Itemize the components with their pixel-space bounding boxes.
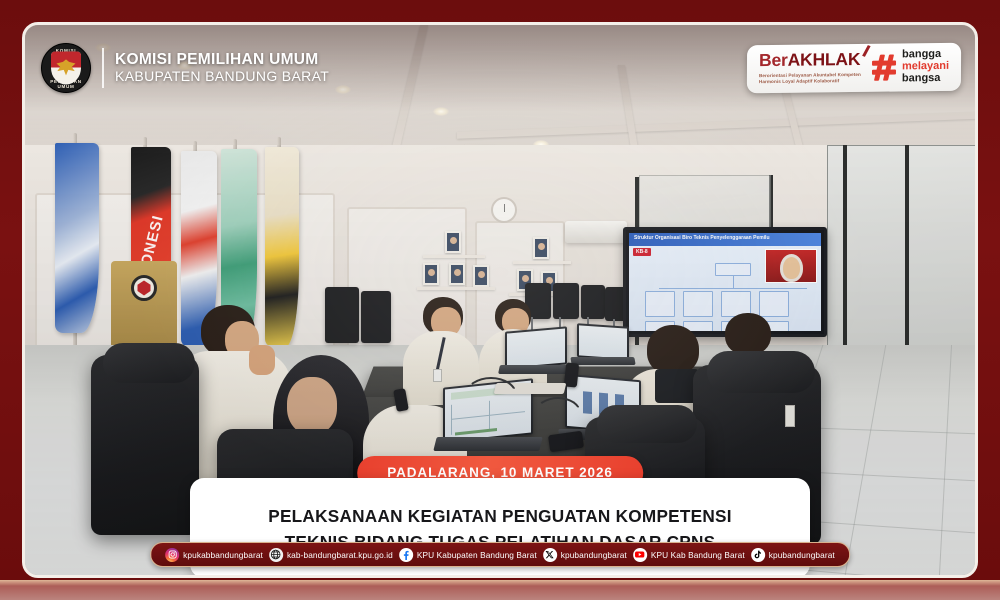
- facebook-icon: [399, 548, 413, 562]
- x-handle: kpubandungbarat: [561, 550, 627, 560]
- tiktok-handle: kpubandungbarat: [769, 550, 835, 560]
- head: [725, 313, 771, 355]
- berakhlak-word-main: AKHLAK: [788, 49, 861, 70]
- website-icon: [269, 548, 283, 562]
- tagline-line-2: Harmonis Loyal Adaptif Kolaboratif: [759, 78, 861, 86]
- hands: [249, 345, 275, 375]
- screen-title-bar: Struktur Organisasi Biro Teknis Penyelen…: [629, 233, 821, 246]
- id-card: [433, 369, 442, 382]
- social-item-website[interactable]: kab-bandungbarat.kpu.go.id: [269, 548, 393, 562]
- x-twitter-icon: [543, 548, 557, 562]
- window-mullion: [905, 145, 909, 377]
- social-item-instagram[interactable]: kpukabbandungbarat: [165, 548, 263, 562]
- berakhlak-word-prefix: Ber: [759, 50, 788, 70]
- website-url: kab-bandungbarat.kpu.go.id: [287, 550, 393, 560]
- laptop-screen-display: [579, 325, 627, 358]
- youtube-icon: [633, 548, 647, 562]
- official-portrait: [445, 231, 461, 253]
- org-node: [645, 291, 675, 317]
- chair-tag: [785, 405, 795, 427]
- brand-block: KOMISI PEMILIHAN UMUM KOMISI PEMILIHAN U…: [41, 43, 329, 93]
- portrait-shelf: [423, 255, 485, 258]
- social-item-youtube[interactable]: KPU Kab Bandung Barat: [633, 548, 745, 562]
- bangga-melayani-block: bangga melayani bangsa: [872, 49, 949, 85]
- kpu-logo-icon: KOMISI PEMILIHAN UMUM: [41, 43, 91, 93]
- social-item-facebook[interactable]: KPU Kabupaten Bandung Barat: [399, 548, 537, 562]
- party-flag: [265, 147, 299, 347]
- screen-badge: KB-8: [633, 248, 651, 256]
- garuda-icon: [57, 59, 76, 75]
- stacked-chair: [325, 287, 359, 343]
- header-overlay: KOMISI PEMILIHAN UMUM KOMISI PEMILIHAN U…: [25, 25, 975, 111]
- tiktok-icon: [751, 548, 765, 562]
- social-item-tiktok[interactable]: kpubandungbarat: [751, 548, 835, 562]
- instagram-handle: kpukabbandungbarat: [183, 550, 263, 560]
- screen-title-text: Struktur Organisasi Biro Teknis Penyelen…: [634, 235, 770, 241]
- brand-text: KOMISI PEMILIHAN UMUM KABUPATEN BANDUNG …: [115, 51, 329, 84]
- org-node: [683, 291, 713, 317]
- wall-clock: [491, 197, 517, 223]
- face: [287, 377, 337, 435]
- laptop-base: [570, 357, 635, 365]
- slogan-text: bangga melayani bangsa: [902, 49, 949, 85]
- party-flag: [55, 143, 99, 333]
- chair-headrest: [707, 351, 815, 393]
- laptop: [577, 323, 629, 361]
- outer-frame: DONESI: [0, 0, 1000, 600]
- hashtag-icon: [872, 54, 896, 80]
- official-portrait: [473, 265, 489, 287]
- stacked-chair: [581, 285, 605, 319]
- head: [647, 325, 699, 375]
- brand-divider: [102, 48, 104, 88]
- social-item-x[interactable]: kpubandungbarat: [543, 548, 627, 562]
- instagram-icon: [165, 548, 179, 562]
- berakhlak-badge: BerAKHLAK Berorientasi Pelayanan Akuntab…: [747, 43, 961, 94]
- portrait-shelf: [513, 261, 571, 264]
- youtube-handle: KPU Kab Bandung Barat: [651, 550, 745, 560]
- berakhlak-wordmark: BerAKHLAK Berorientasi Pelayanan Akuntab…: [759, 51, 861, 85]
- official-portrait: [533, 237, 549, 259]
- facebook-handle: KPU Kabupaten Bandung Barat: [417, 550, 537, 560]
- slogan-line-3: bangsa: [902, 72, 949, 84]
- laptop-base: [498, 365, 574, 374]
- presentation-screen: Struktur Organisasi Biro Teknis Penyelen…: [623, 227, 827, 337]
- garuda-shield: [51, 52, 81, 85]
- chair-headrest: [597, 405, 697, 443]
- org-connector: [733, 276, 734, 288]
- stacked-chair: [361, 291, 391, 343]
- glass-partition: [827, 145, 975, 377]
- air-conditioner: [565, 221, 627, 243]
- slogan-line-2: melayani: [902, 60, 949, 72]
- caption-line-1: PELAKSANAAN KEGIATAN PENGUATAN KOMPETENS…: [210, 504, 790, 530]
- org-node: [715, 263, 751, 276]
- check-tick-icon: [856, 43, 870, 57]
- stacked-chair: [553, 283, 579, 319]
- berakhlak-tagline: Berorientasi Pelayanan Akuntabel Kompete…: [759, 71, 861, 85]
- frame-bottom-accent: [0, 580, 1000, 600]
- laptop-base: [433, 437, 542, 451]
- official-portrait: [449, 263, 465, 285]
- social-media-bar: kpukabbandungbarat kab-bandungbarat.kpu.…: [150, 542, 850, 567]
- official-portrait: [423, 263, 439, 285]
- institution-title: KOMISI PEMILIHAN UMUM: [115, 51, 329, 68]
- berakhlak-word: BerAKHLAK: [759, 51, 861, 70]
- portrait-shelf: [417, 287, 495, 290]
- screen-content: Struktur Organisasi Biro Teknis Penyelen…: [629, 233, 821, 331]
- photo-card: DONESI: [22, 22, 978, 578]
- laptop: [505, 326, 567, 369]
- org-connector: [659, 288, 807, 289]
- laptop-screen-display: [507, 328, 565, 367]
- presenter-video-tile: [765, 249, 817, 283]
- org-node: [759, 291, 789, 317]
- institution-subtitle: KABUPATEN BANDUNG BARAT: [115, 69, 329, 85]
- chair-headrest: [103, 343, 195, 383]
- window-mullion: [843, 145, 847, 377]
- podium-emblem: [131, 275, 157, 301]
